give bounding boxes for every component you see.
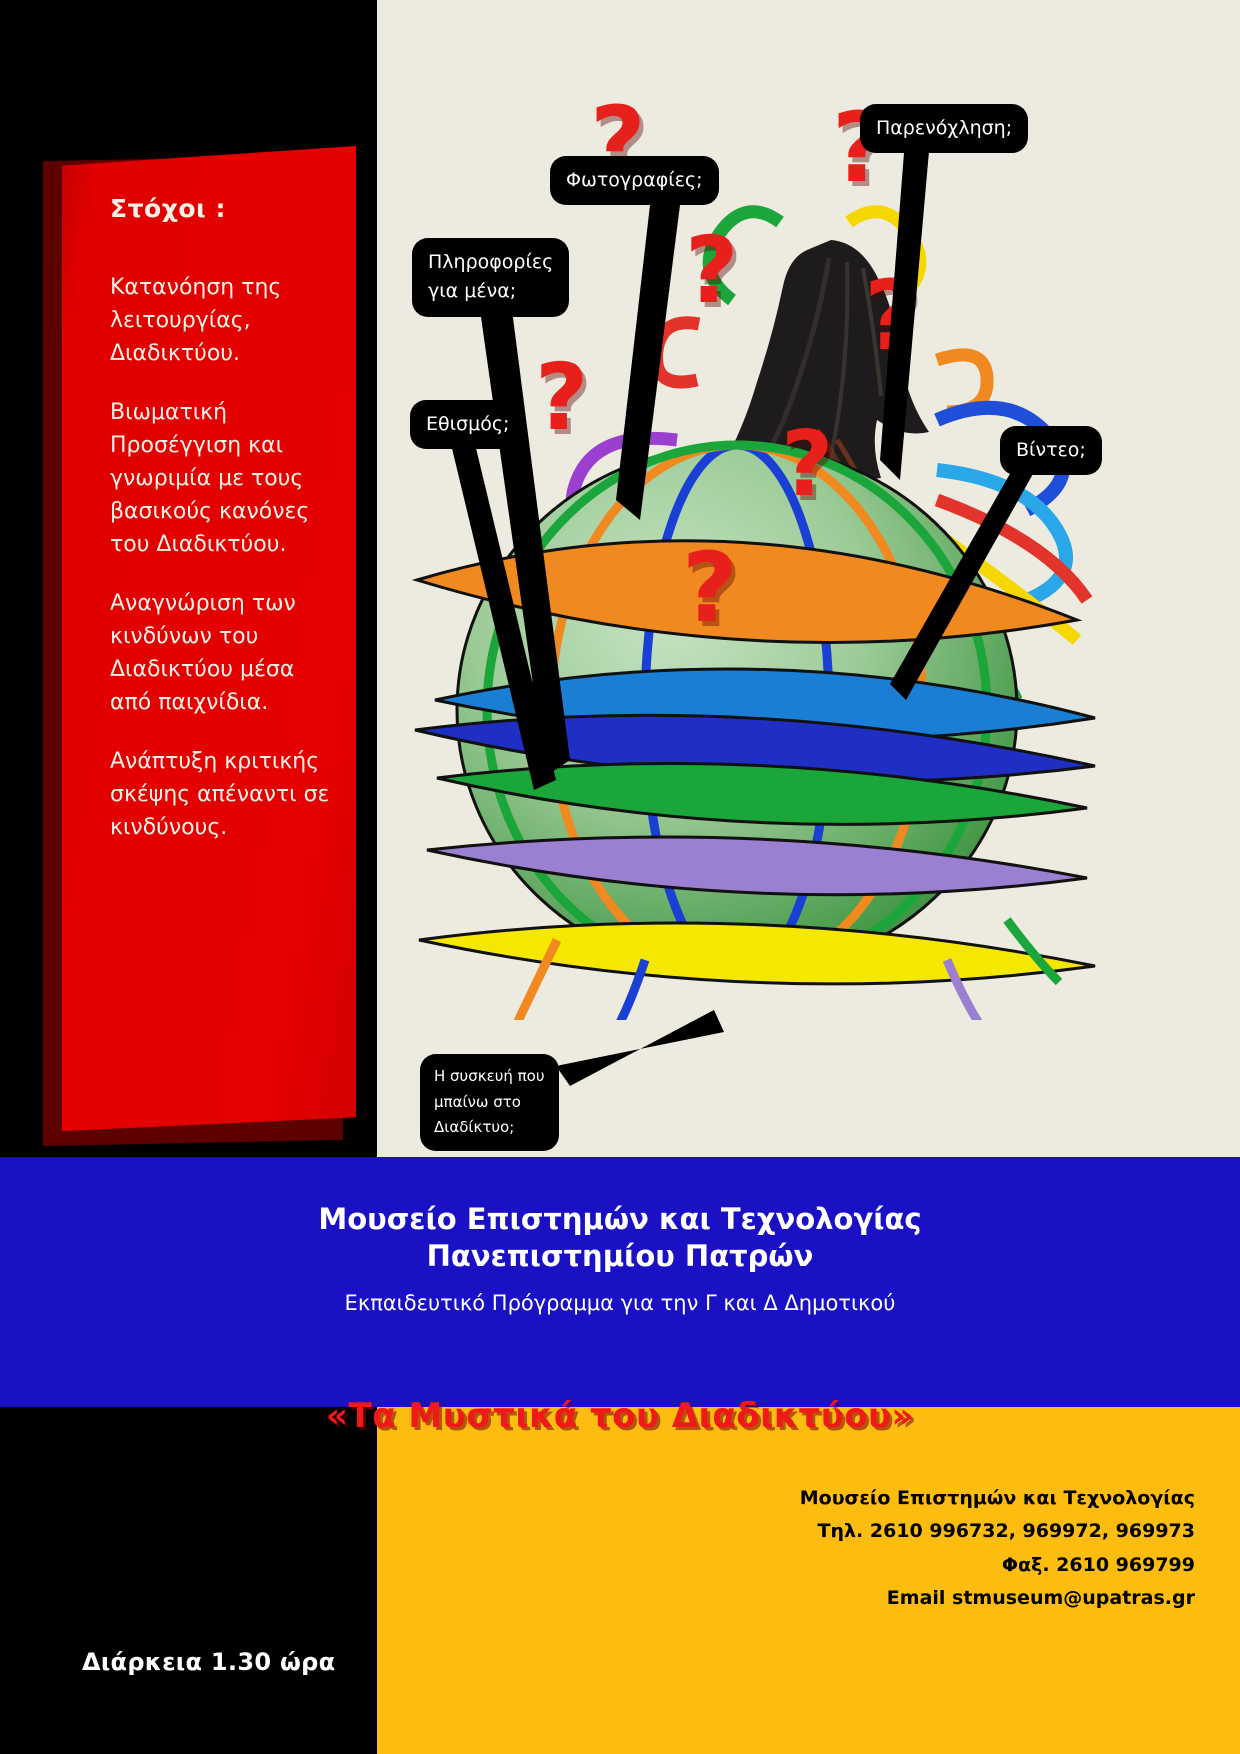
globe-illustration bbox=[407, 400, 1107, 1020]
museum-name-line-1: Μουσείο Επιστημών και Τεχνολογίας bbox=[0, 1201, 1240, 1238]
objectives-panel: Στόχοι : Κατανόηση της λειτουργίας, Διαδ… bbox=[62, 146, 356, 1131]
bubble-device-line3: Διαδίκτυο; bbox=[434, 1115, 545, 1141]
question-mark-icon: ? bbox=[685, 225, 738, 317]
objective-item: Αναγνώριση των κινδύνων του Διαδικτύου μ… bbox=[110, 587, 330, 719]
bubble-addiction-label: Εθισμός; bbox=[426, 413, 509, 435]
museum-name-line-2: Πανεπιστημίου Πατρών bbox=[0, 1238, 1240, 1275]
objective-item: Ανάπτυξη κριτικής σκέψης απέναντι σε κιν… bbox=[110, 745, 330, 844]
objective-item: Κατανόηση της λειτουργίας, Διαδικτύου. bbox=[110, 271, 330, 370]
question-mark-icon: ? bbox=[535, 352, 588, 444]
question-mark-icon: ? bbox=[781, 420, 833, 510]
question-mark-icon: ? bbox=[864, 268, 920, 364]
contact-box: Μουσείο Επιστημών και Τεχνολογίας Τηλ. 2… bbox=[377, 1407, 1240, 1754]
objective-item: Βιωματική Προσέγγιση και γνωριμία με του… bbox=[110, 396, 330, 561]
objectives-heading: Στόχοι : bbox=[110, 194, 330, 223]
duration-label: Διάρκεια 1.30 ώρα bbox=[82, 1648, 335, 1676]
bubble-harassment[interactable]: Παρενόχληση; bbox=[860, 104, 1028, 153]
bubble-photos[interactable]: Φωτογραφίες; bbox=[550, 156, 719, 205]
globe-svg bbox=[407, 400, 1107, 1020]
illustration-canvas: ? ? ? ? ? ? ? bbox=[377, 0, 1240, 1157]
contact-phone: Τηλ. 2610 996732, 969972, 969973 bbox=[377, 1515, 1195, 1548]
bubble-device-line1: Η συσκευή που bbox=[434, 1064, 545, 1090]
bubble-video[interactable]: Βίντεο; bbox=[1000, 426, 1102, 475]
bubble-device-line2: μπαίνω στο bbox=[434, 1090, 545, 1116]
contact-museum-name: Μουσείο Επιστημών και Τεχνολογίας bbox=[377, 1482, 1195, 1515]
footer-blue-band: Μουσείο Επιστημών και Τεχνολογίας Πανεπι… bbox=[0, 1157, 1240, 1407]
bubble-addiction[interactable]: Εθισμός; bbox=[410, 400, 525, 449]
poster-root: ? ? ? ? ? ? ? Παρενόχληση; Φωτογραφίες; … bbox=[0, 0, 1240, 1754]
bubble-info-about-me[interactable]: Πληροφορίες για μένα; bbox=[412, 238, 569, 317]
bubble-device[interactable]: Η συσκευή που μπαίνω στο Διαδίκτυο; bbox=[420, 1054, 559, 1151]
question-mark-icon: ? bbox=[682, 540, 738, 636]
contact-fax: Φαξ. 2610 969799 bbox=[377, 1549, 1195, 1582]
contact-email[interactable]: Email stmuseum@upatras.gr bbox=[377, 1582, 1195, 1615]
bubble-photos-label: Φωτογραφίες; bbox=[566, 169, 703, 191]
bubble-info-about-me-line2: για μένα; bbox=[428, 277, 553, 306]
bubble-info-about-me-line1: Πληροφορίες bbox=[428, 248, 553, 277]
program-audience-line: Εκπαιδευτικό Πρόγραμμα για την Γ και Δ Δ… bbox=[0, 1291, 1240, 1315]
bubble-video-label: Βίντεο; bbox=[1016, 439, 1086, 461]
program-title: «Τα Μυστικά του Διαδικτύου» bbox=[0, 1396, 1240, 1436]
bubble-harassment-label: Παρενόχληση; bbox=[876, 117, 1012, 139]
